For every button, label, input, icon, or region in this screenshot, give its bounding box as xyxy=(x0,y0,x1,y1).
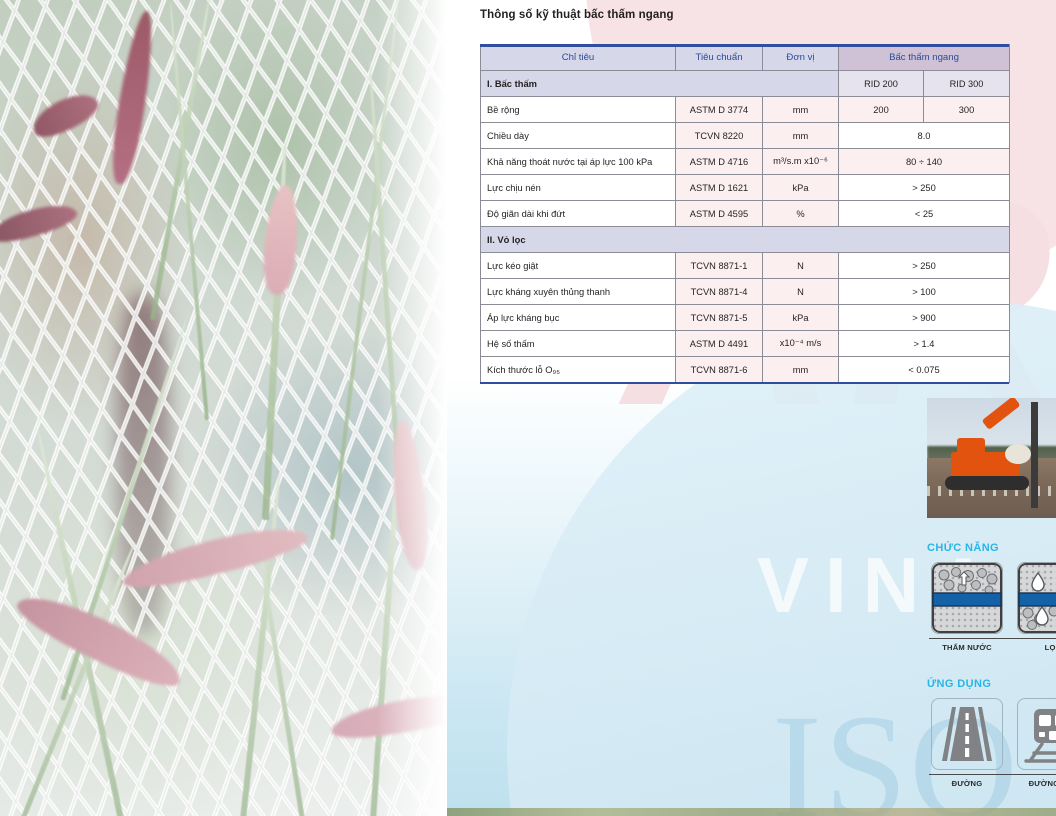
cell-unit: mm xyxy=(763,97,839,123)
table-bottom-rule xyxy=(480,382,1009,384)
cell-criteria: Hệ số thấm xyxy=(481,331,676,357)
table-header-row: Chỉ tiêu Tiêu chuẩn Đơn vị Bấc thấm ngan… xyxy=(481,45,1010,71)
cell-value-merged: < 0.075 xyxy=(839,357,1010,383)
cell-unit: % xyxy=(763,201,839,227)
table-head: Chỉ tiêu Tiêu chuẩn Đơn vị Bấc thấm ngan… xyxy=(481,45,1010,71)
cell-unit: N xyxy=(763,253,839,279)
cell-unit: N xyxy=(763,279,839,305)
table-row: Áp lực kháng bục TCVN 8871-5 kPa > 900 xyxy=(481,305,1010,331)
cell-unit: x10⁻⁴ m/s xyxy=(763,331,839,357)
cell-value-merged: > 1.4 xyxy=(839,331,1010,357)
cell-value-rid200: 200 xyxy=(839,97,924,123)
applications-row: ĐƯỜNG xyxy=(929,698,1056,800)
section-row-1: I. Bấc thấm RID 200 RID 300 xyxy=(481,71,1010,97)
col-header-unit: Đơn vị xyxy=(763,45,839,71)
cell-unit: mm xyxy=(763,357,839,383)
cell-standard: TCVN 8871-5 xyxy=(676,305,763,331)
cell-criteria: Độ giãn dài khi đứt xyxy=(481,201,676,227)
cell-criteria: Chiều dày xyxy=(481,123,676,149)
cell-standard: TCVN 8871-4 xyxy=(676,279,763,305)
grass-fence-photo xyxy=(0,0,447,816)
product-col-rid300: RID 300 xyxy=(924,71,1010,97)
table-row: Kích thước lỗ O₉₅ TCVN 8871-6 mm < 0.075 xyxy=(481,357,1010,383)
cell-value-merged: > 250 xyxy=(839,175,1010,201)
product-col-rid200: RID 200 xyxy=(839,71,924,97)
cell-standard: TCVN 8871-1 xyxy=(676,253,763,279)
function-item-filtration: LỌC xyxy=(1015,562,1056,653)
cell-value-merged: > 100 xyxy=(839,279,1010,305)
cell-standard: ASTM D 4491 xyxy=(676,331,763,357)
functions-heading: CHỨC NĂNG xyxy=(927,542,999,554)
product-datasheet-page: ARIT VINA ISO Thông số kỹ thuật bấc thấm… xyxy=(0,0,1056,816)
table-row: Chiều dày TCVN 8220 mm 8.0 xyxy=(481,123,1010,149)
function-label: THẤM NƯỚC xyxy=(942,643,992,653)
cell-criteria: Kích thước lỗ O₉₅ xyxy=(481,357,676,383)
table-body: I. Bấc thấm RID 200 RID 300 Bề rộng ASTM… xyxy=(481,71,1010,383)
cell-unit: mm xyxy=(763,123,839,149)
table-top-rule xyxy=(480,44,1009,47)
col-header-product: Bấc thấm ngang xyxy=(839,45,1010,71)
cell-criteria: Lực chịu nén xyxy=(481,175,676,201)
table-row: Lực kéo giật TCVN 8871-1 N > 250 xyxy=(481,253,1010,279)
cell-criteria: Bề rộng xyxy=(481,97,676,123)
cell-unit: kPa xyxy=(763,305,839,331)
table-row: Lực chịu nén ASTM D 1621 kPa > 250 xyxy=(481,175,1010,201)
table-row: Lực kháng xuyên thủng thanh TCVN 8871-4 … xyxy=(481,279,1010,305)
cell-unit: m³/s.m x10⁻⁶ xyxy=(763,149,839,175)
table-row: Khả năng thoát nước tại áp lực 100 kPa A… xyxy=(481,149,1010,175)
application-label: ĐƯỜNG xyxy=(952,779,983,789)
application-item-railway: ĐƯỜNG SẮT xyxy=(1015,698,1056,800)
applications-heading: ỨNG DỤNG xyxy=(927,678,991,690)
application-label: ĐƯỜNG SẮT xyxy=(1029,779,1056,789)
table-row: Hệ số thấm ASTM D 4491 x10⁻⁴ m/s > 1.4 xyxy=(481,331,1010,357)
road-icon xyxy=(931,698,1003,770)
spec-table-wrapper: Chỉ tiêu Tiêu chuẩn Đơn vị Bấc thấm ngan… xyxy=(480,44,1009,383)
table-row: Bề rộng ASTM D 3774 mm 200 300 xyxy=(481,97,1010,123)
construction-site-photo xyxy=(927,398,1056,518)
cell-criteria: Khả năng thoát nước tại áp lực 100 kPa xyxy=(481,149,676,175)
spec-table: Chỉ tiêu Tiêu chuẩn Đơn vị Bấc thấm ngan… xyxy=(480,44,1010,383)
application-item-road: ĐƯỜNG xyxy=(929,698,1005,800)
cell-standard: ASTM D 1621 xyxy=(676,175,763,201)
cell-value-merged: 80 ÷ 140 xyxy=(839,149,1010,175)
col-header-criteria: Chỉ tiêu xyxy=(481,45,676,71)
cell-value-rid300: 300 xyxy=(924,97,1010,123)
cell-value-merged: > 250 xyxy=(839,253,1010,279)
section-row-2: II. Vỏ lọc xyxy=(481,227,1010,253)
cell-criteria: Lực kéo giật xyxy=(481,253,676,279)
cell-standard: ASTM D 3774 xyxy=(676,97,763,123)
table-row: Độ giãn dài khi đứt ASTM D 4595 % < 25 xyxy=(481,201,1010,227)
cell-standard: ASTM D 4716 xyxy=(676,149,763,175)
section-label-1: I. Bấc thấm xyxy=(481,71,839,97)
cell-standard: TCVN 8871-6 xyxy=(676,357,763,383)
spec-panel: ARIT VINA ISO Thông số kỹ thuật bấc thấm… xyxy=(447,0,1056,816)
water-infiltration-icon xyxy=(931,562,1003,634)
photo-right-fade xyxy=(377,0,447,816)
cell-criteria: Áp lực kháng bục xyxy=(481,305,676,331)
function-item-infiltration: THẤM NƯỚC xyxy=(929,562,1005,653)
table-title: Thông số kỹ thuật bấc thấm ngang xyxy=(480,9,674,21)
cell-value-merged: > 900 xyxy=(839,305,1010,331)
cell-unit: kPa xyxy=(763,175,839,201)
section-label-2: II. Vỏ lọc xyxy=(481,227,1010,253)
function-label: LỌC xyxy=(1045,643,1056,653)
cell-standard: ASTM D 4595 xyxy=(676,201,763,227)
cell-value-merged: 8.0 xyxy=(839,123,1010,149)
filtration-icon xyxy=(1017,562,1056,634)
cell-value-merged: < 25 xyxy=(839,201,1010,227)
railway-icon xyxy=(1017,698,1056,770)
functions-row: THẤM NƯỚC xyxy=(929,562,1056,653)
col-header-standard: Tiêu chuẩn xyxy=(676,45,763,71)
cell-standard: TCVN 8220 xyxy=(676,123,763,149)
cell-criteria: Lực kháng xuyên thủng thanh xyxy=(481,279,676,305)
bottom-photo-strip xyxy=(447,808,1056,816)
